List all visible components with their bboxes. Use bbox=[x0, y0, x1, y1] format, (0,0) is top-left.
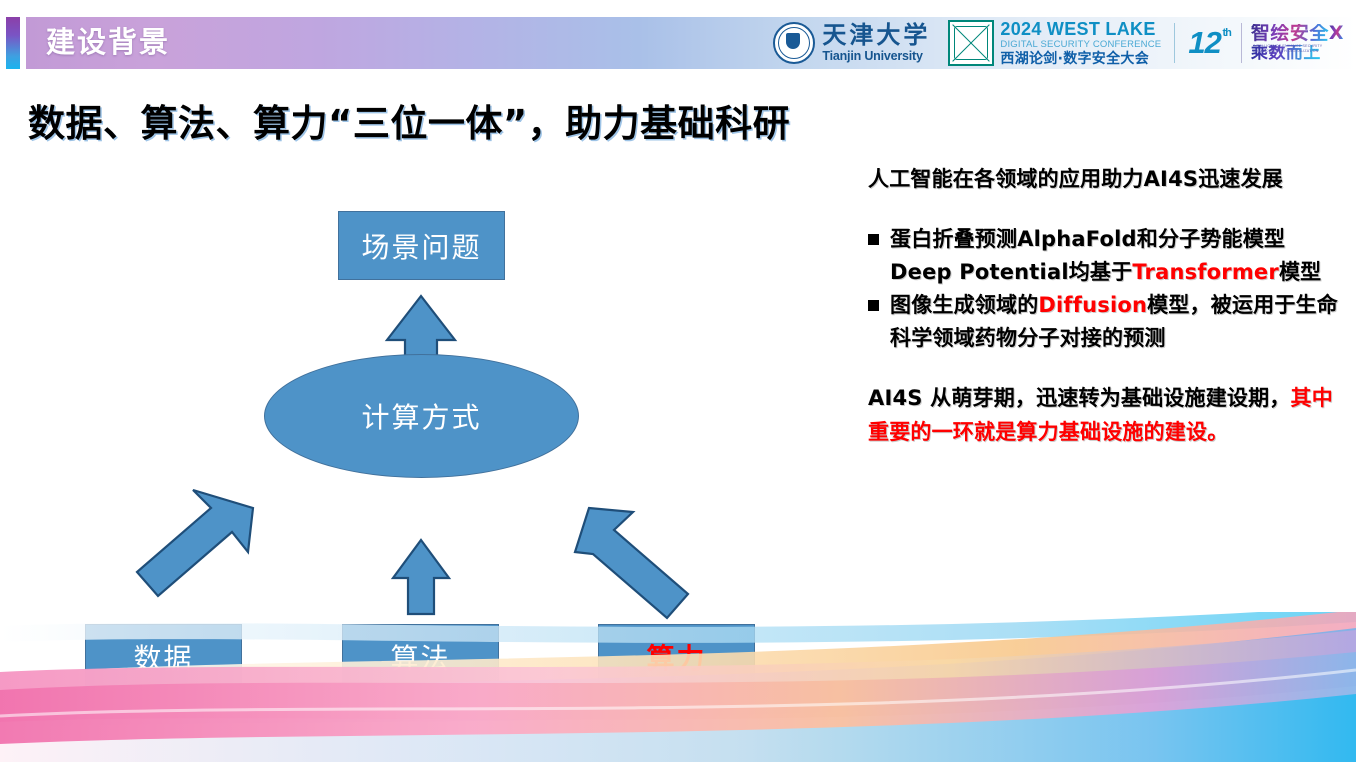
bullet-text: 图像生成领域的Diffusion模型，被运用于生命科学领域药物分子对接的预测 bbox=[890, 289, 1338, 355]
diagram-node-compute-method[interactable]: 计算方式 bbox=[264, 354, 579, 478]
diagram-node-scene[interactable]: 场景问题 bbox=[338, 211, 505, 280]
tianjin-university-wordmark: 天津大学 Tianjin University bbox=[822, 23, 930, 63]
logo-row: 天津大学 Tianjin University 2024 WEST LAKE D… bbox=[773, 16, 1344, 70]
bullet-text: 蛋白折叠预测AlphaFold和分子势能模型Deep Potential均基于T… bbox=[890, 223, 1338, 289]
lead-paragraph: 人工智能在各领域的应用助力AI4S迅速发展 bbox=[868, 163, 1338, 195]
list-item: 图像生成领域的Diffusion模型，被运用于生命科学领域药物分子对接的预测 bbox=[868, 289, 1338, 355]
slogan-english-microtext: INTELLIGENCE ENHANCE SECURITY ADVANCING … bbox=[1253, 44, 1344, 53]
diagram-node-algorithm[interactable]: 算法 bbox=[342, 624, 499, 690]
section-label: 建设背景 bbox=[46, 22, 170, 64]
slogan-wordmark: 智绘安全X 乘数而上 INTELLIGENCE ENHANCE SECURITY… bbox=[1251, 24, 1344, 62]
page-title: 数据、算法、算力“三位一体”，助力基础科研 bbox=[28, 93, 790, 147]
triad-diagram: 场景问题 计算方式 数据 算法 算力 bbox=[0, 160, 850, 720]
conference-title-cn: 西湖论剑·数字安全大会 bbox=[1000, 52, 1161, 66]
tianjin-university-seal-icon bbox=[773, 22, 815, 64]
west-lake-conference-logo: 2024 WEST LAKE DIGITAL SECURITY CONFEREN… bbox=[940, 16, 1230, 70]
logo-divider bbox=[1174, 23, 1175, 63]
tianjin-university-logo: 天津大学 Tianjin University bbox=[773, 16, 940, 70]
tju-name-cn: 天津大学 bbox=[822, 23, 930, 47]
conference-title-en: 2024 WEST LAKE bbox=[1000, 20, 1161, 38]
slogan-line-1: 智绘安全 bbox=[1251, 24, 1329, 43]
bullet-text-before: 图像生成领域的 bbox=[890, 293, 1038, 317]
bullet-text-highlight: Transformer bbox=[1132, 260, 1279, 284]
bullet-list: 蛋白折叠预测AlphaFold和分子势能模型Deep Potential均基于T… bbox=[868, 223, 1338, 355]
diagram-node-data-label: 数据 bbox=[86, 625, 241, 689]
diagram-node-scene-label: 场景问题 bbox=[339, 212, 504, 279]
diagram-node-power-label: 算力 bbox=[599, 625, 754, 689]
arrow-algorithm-to-compute bbox=[393, 540, 449, 614]
bullet-square-icon bbox=[868, 300, 879, 311]
diagram-node-algorithm-label: 算法 bbox=[343, 625, 498, 689]
bullet-square-icon bbox=[868, 234, 879, 245]
bullet-text-after: 模型 bbox=[1279, 260, 1321, 284]
west-lake-wordmark: 2024 WEST LAKE DIGITAL SECURITY CONFEREN… bbox=[1000, 20, 1161, 67]
header-accent-bar bbox=[6, 17, 20, 69]
conference-edition: 12th bbox=[1188, 25, 1230, 61]
diagram-node-compute-method-label: 计算方式 bbox=[265, 355, 578, 477]
list-item: 蛋白折叠预测AlphaFold和分子势能模型Deep Potential均基于T… bbox=[868, 223, 1338, 289]
slogan-logo: 智绘安全X 乘数而上 INTELLIGENCE ENHANCE SECURITY… bbox=[1231, 16, 1344, 70]
footer-paragraph: AI4S 从萌芽期，迅速转为基础设施建设期，其中重要的一环就是算力基础设施的建设… bbox=[868, 381, 1338, 449]
conference-subtitle-en: DIGITAL SECURITY CONFERENCE bbox=[1000, 40, 1161, 50]
slide-canvas: 建设背景 天津大学 Tianjin University 2024 WEST L… bbox=[0, 0, 1356, 762]
explanation-panel: 人工智能在各领域的应用助力AI4S迅速发展 蛋白折叠预测AlphaFold和分子… bbox=[868, 163, 1338, 449]
footer-text-before: AI4S 从萌芽期，迅速转为基础设施建设期， bbox=[868, 386, 1291, 410]
arrow-data-to-compute bbox=[137, 490, 253, 596]
west-lake-emblem-icon bbox=[948, 20, 994, 66]
tju-name-en: Tianjin University bbox=[822, 50, 930, 63]
diagram-node-data[interactable]: 数据 bbox=[85, 624, 242, 690]
conference-edition-suffix: th bbox=[1222, 27, 1230, 39]
arrow-power-to-compute bbox=[575, 508, 688, 618]
west-lake-emblem-stroke bbox=[953, 24, 990, 61]
diagram-node-power[interactable]: 算力 bbox=[598, 624, 755, 690]
bullet-text-highlight: Diffusion bbox=[1038, 293, 1147, 317]
conference-edition-number: 12 bbox=[1188, 25, 1220, 60]
slogan-x-icon: X bbox=[1329, 24, 1344, 43]
logo-divider bbox=[1241, 23, 1242, 63]
